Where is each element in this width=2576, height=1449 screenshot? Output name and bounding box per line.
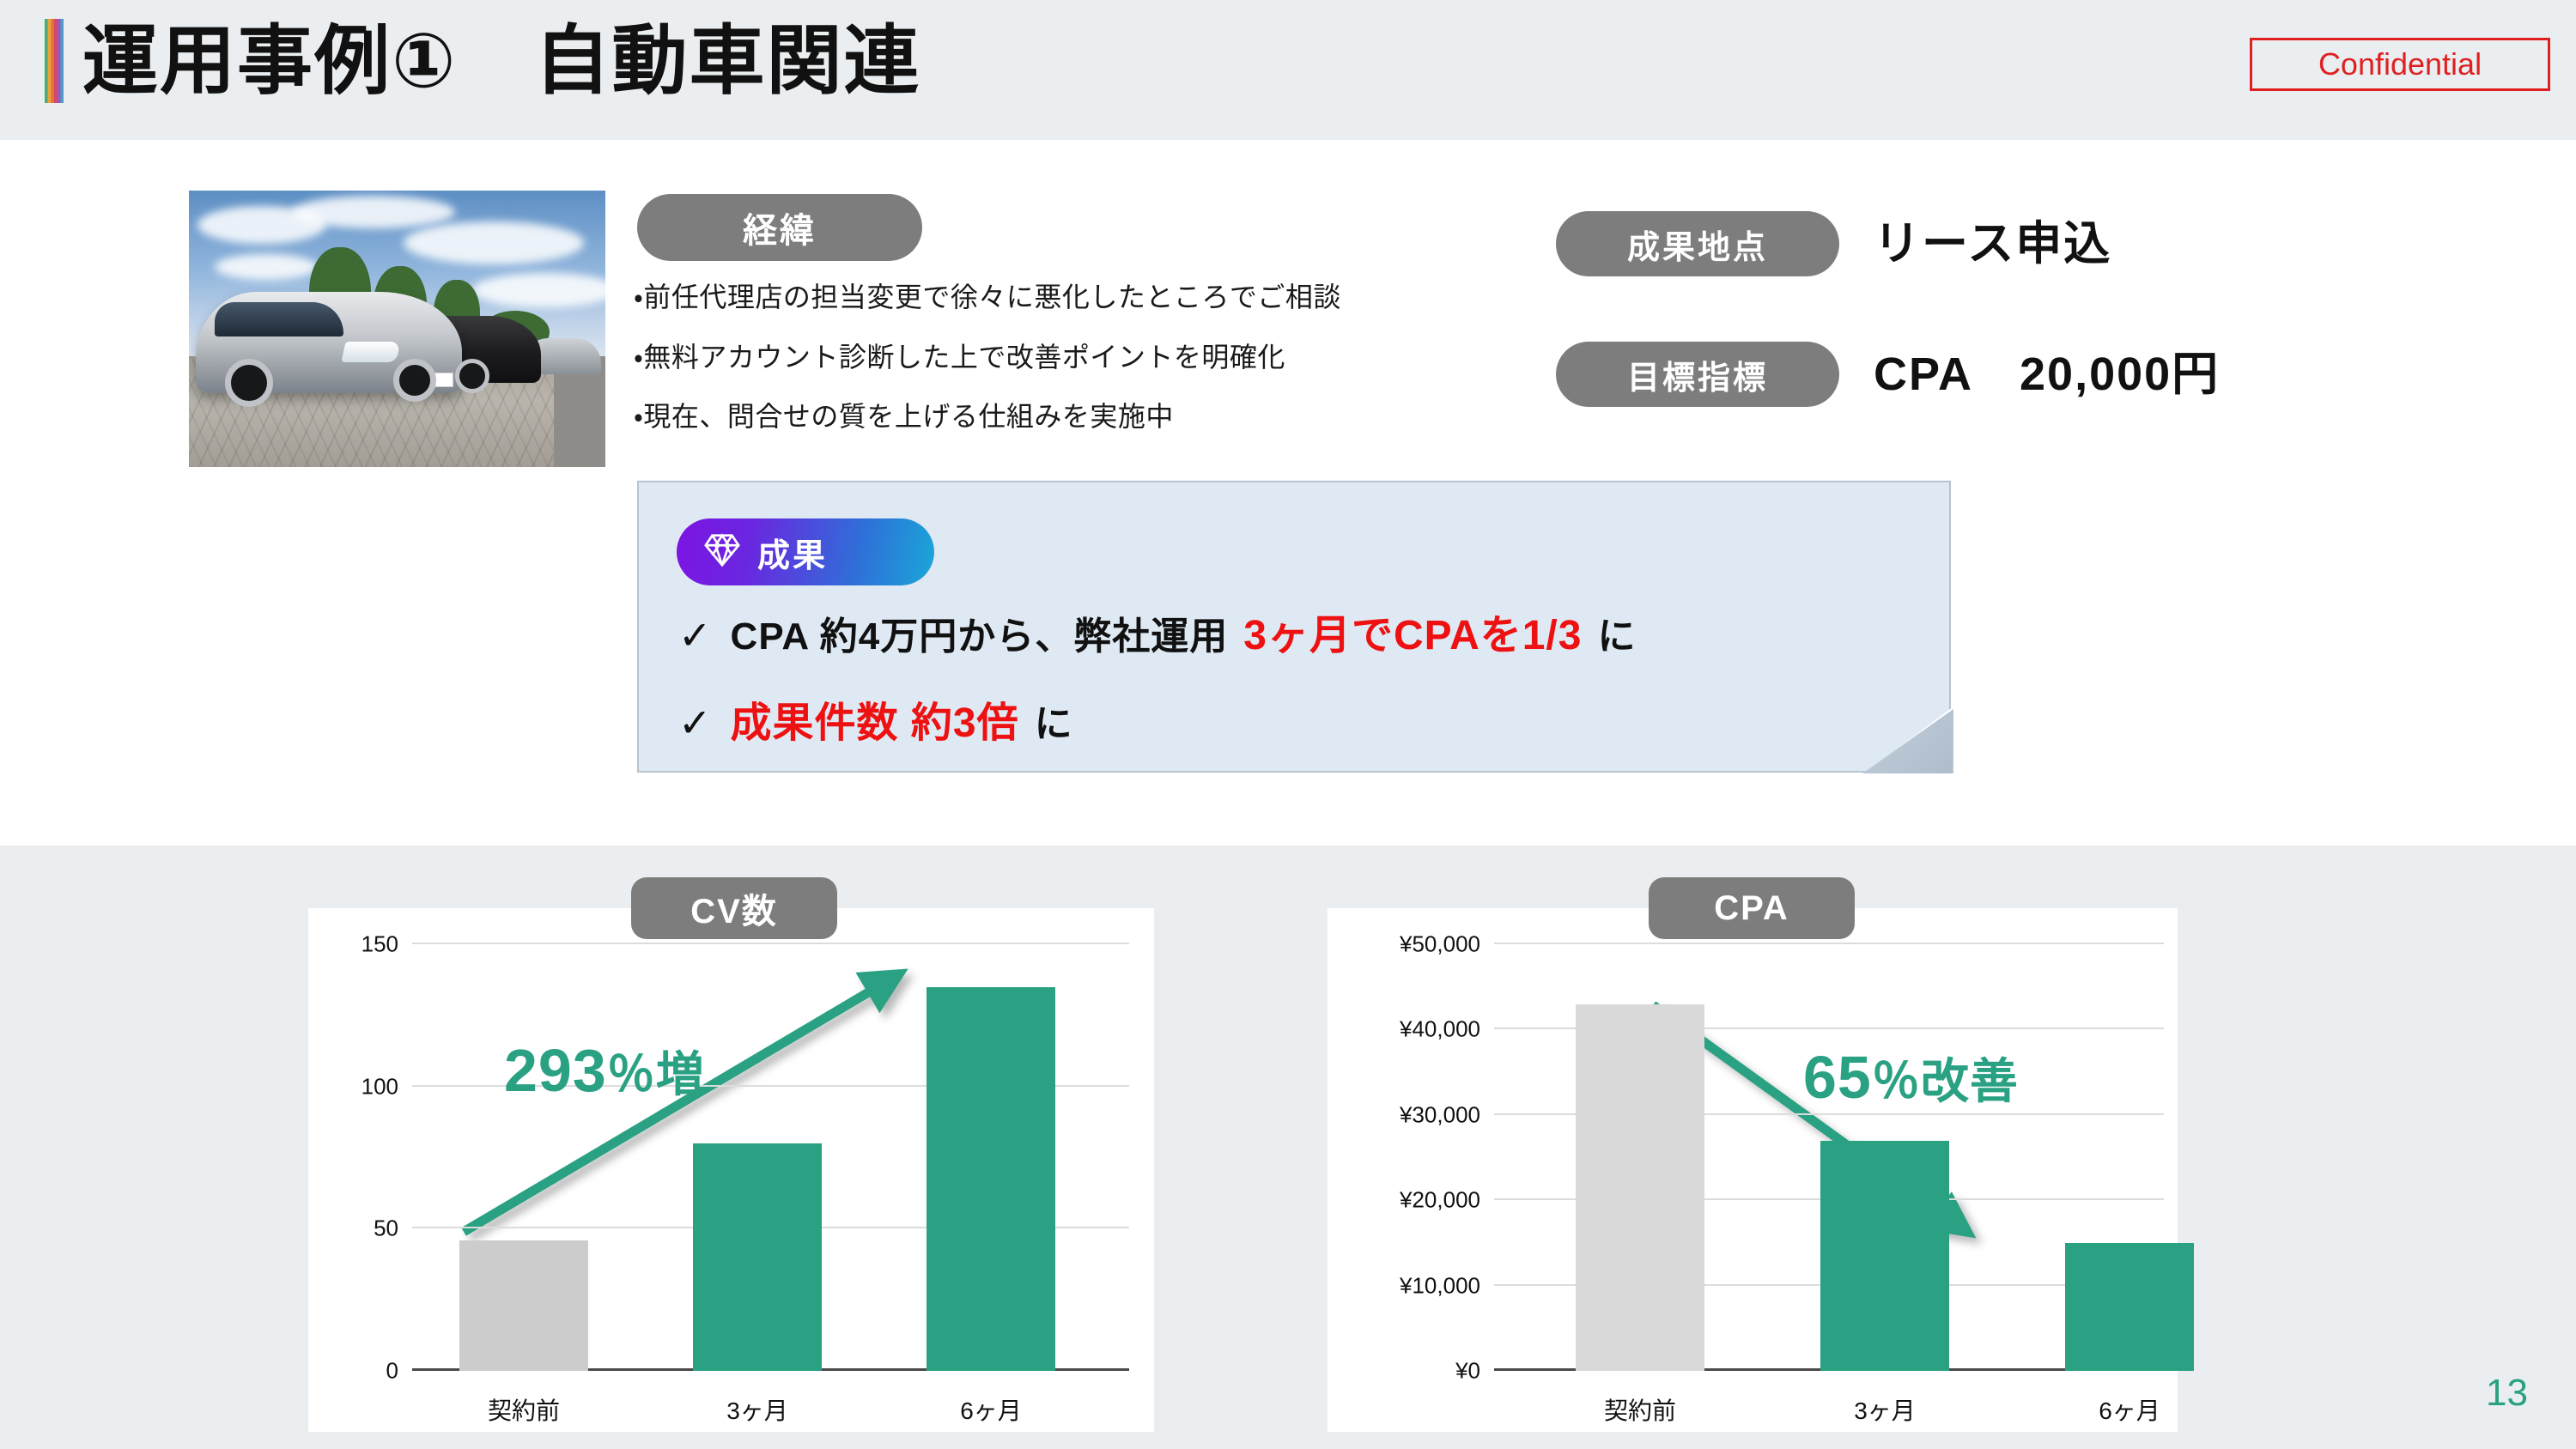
chart-y-tick-label: ¥50,000 <box>1400 931 1480 958</box>
photo-cloud <box>215 254 318 280</box>
kpi-value-target-metric: CPA 20,000円 <box>1874 342 2220 407</box>
chart-x-tick-label: 契約前 <box>488 1392 560 1427</box>
chart-y-tick-label: 100 <box>361 1073 398 1100</box>
chart-plot-cv: 050100150契約前3ヶ月6ヶ月 <box>412 944 1129 1373</box>
photo-wheel <box>225 359 273 407</box>
result-line-1: ✓ CPA 約4万円から、弊社運用 3ヶ月でCPAを1/3 に <box>678 601 1636 661</box>
chart-bar <box>693 1143 822 1371</box>
chart-y-tick-label: ¥30,000 <box>1400 1101 1480 1128</box>
chart-annotation-cpa: 65％改善 <box>1803 1043 2019 1113</box>
slide: 運用事例① 自動車関連 Confidential 経緯 ・前任代理店の担当変更で… <box>0 0 2576 1449</box>
background-bullet-list: ・前任代理店の担当変更で徐々に悪化したところでご相談 ・無料アカウント診断した上… <box>634 283 1492 463</box>
result-line-2-highlight: 成果件数 約3倍 <box>731 688 1019 749</box>
chart-bar <box>459 1240 588 1371</box>
result-line-2-suffix: に <box>1035 693 1073 748</box>
photo-cloud <box>404 221 584 264</box>
chart-bar <box>1820 1141 1949 1371</box>
chart-y-tick-label: 150 <box>361 931 398 958</box>
slide-header: 運用事例① 自動車関連 Confidential <box>0 0 2576 140</box>
list-item: ・前任代理店の担当変更で徐々に悪化したところでご相談 <box>634 283 1492 312</box>
check-icon: ✓ <box>678 700 712 746</box>
chart-annotation-cpa-value: 65 <box>1803 1044 1872 1111</box>
chart-title-cpa: CPA <box>1649 877 1855 939</box>
chart-plot-cpa: ¥0¥10,000¥20,000¥30,000¥40,000¥50,000契約前… <box>1494 944 2164 1373</box>
chart-y-tick-label: ¥0 <box>1455 1358 1480 1385</box>
page-title: 運用事例① 自動車関連 <box>82 5 921 117</box>
chart-x-tick-label: 契約前 <box>1604 1392 1676 1427</box>
chart-y-tick-label: ¥20,000 <box>1400 1187 1480 1214</box>
section-label-background: 経緯 <box>637 194 922 261</box>
chart-bar <box>927 987 1055 1371</box>
check-icon: ✓ <box>678 612 712 658</box>
chart-annotation-cv-unit: ％増 <box>607 1047 705 1101</box>
chart-y-tick-label: ¥40,000 <box>1400 1016 1480 1043</box>
chart-annotation-cv: 293％増 <box>504 1036 705 1106</box>
chart-gridline <box>412 943 1129 944</box>
list-item: ・現在、問合せの質を上げる仕組みを実施中 <box>634 403 1492 432</box>
car-photo <box>189 191 605 467</box>
result-line-2: ✓ 成果件数 約3倍 に <box>678 688 1073 749</box>
photo-headlight <box>341 342 400 362</box>
chart-title-cv: CV数 <box>631 877 837 939</box>
chart-bar <box>1576 1004 1704 1371</box>
chart-annotation-cv-value: 293 <box>504 1037 607 1104</box>
title-accent-bar <box>45 19 64 103</box>
chart-y-tick-label: ¥10,000 <box>1400 1272 1480 1299</box>
diamond-icon <box>702 530 742 574</box>
photo-car-window <box>215 302 343 336</box>
photo-cloud <box>292 196 455 228</box>
list-item: ・無料アカウント診断した上で改善ポイントを明確化 <box>634 343 1492 373</box>
confidential-badge: Confidential <box>2250 38 2550 91</box>
photo-wheel <box>393 359 436 402</box>
kpi-label-conversion-point: 成果地点 <box>1556 211 1839 276</box>
results-badge-label: 成果 <box>757 529 828 576</box>
chart-annotation-cpa-unit: ％改善 <box>1872 1054 2019 1108</box>
result-line-1-text: CPA 約4万円から、弊社運用 <box>731 605 1229 660</box>
photo-wheel <box>455 359 489 393</box>
chart-x-tick-label: 6ヶ月 <box>2099 1392 2160 1427</box>
results-badge: 成果 <box>677 518 934 585</box>
chart-y-tick-label: 50 <box>374 1216 398 1242</box>
chart-x-tick-label: 6ヶ月 <box>960 1392 1022 1427</box>
result-line-1-highlight: 3ヶ月でCPAを1/3 <box>1243 601 1582 661</box>
result-line-1-suffix: に <box>1597 605 1636 660</box>
chart-x-tick-label: 3ヶ月 <box>726 1392 788 1427</box>
chart-y-tick-label: 0 <box>386 1358 398 1385</box>
kpi-value-conversion-point: リース申込 <box>1874 211 2111 276</box>
chart-bar <box>2065 1243 2194 1371</box>
chart-x-tick-label: 3ヶ月 <box>1854 1392 1916 1427</box>
page-number: 13 <box>2486 1372 2528 1415</box>
kpi-label-target-metric: 目標指標 <box>1556 342 1839 407</box>
chart-gridline <box>1494 943 2164 944</box>
